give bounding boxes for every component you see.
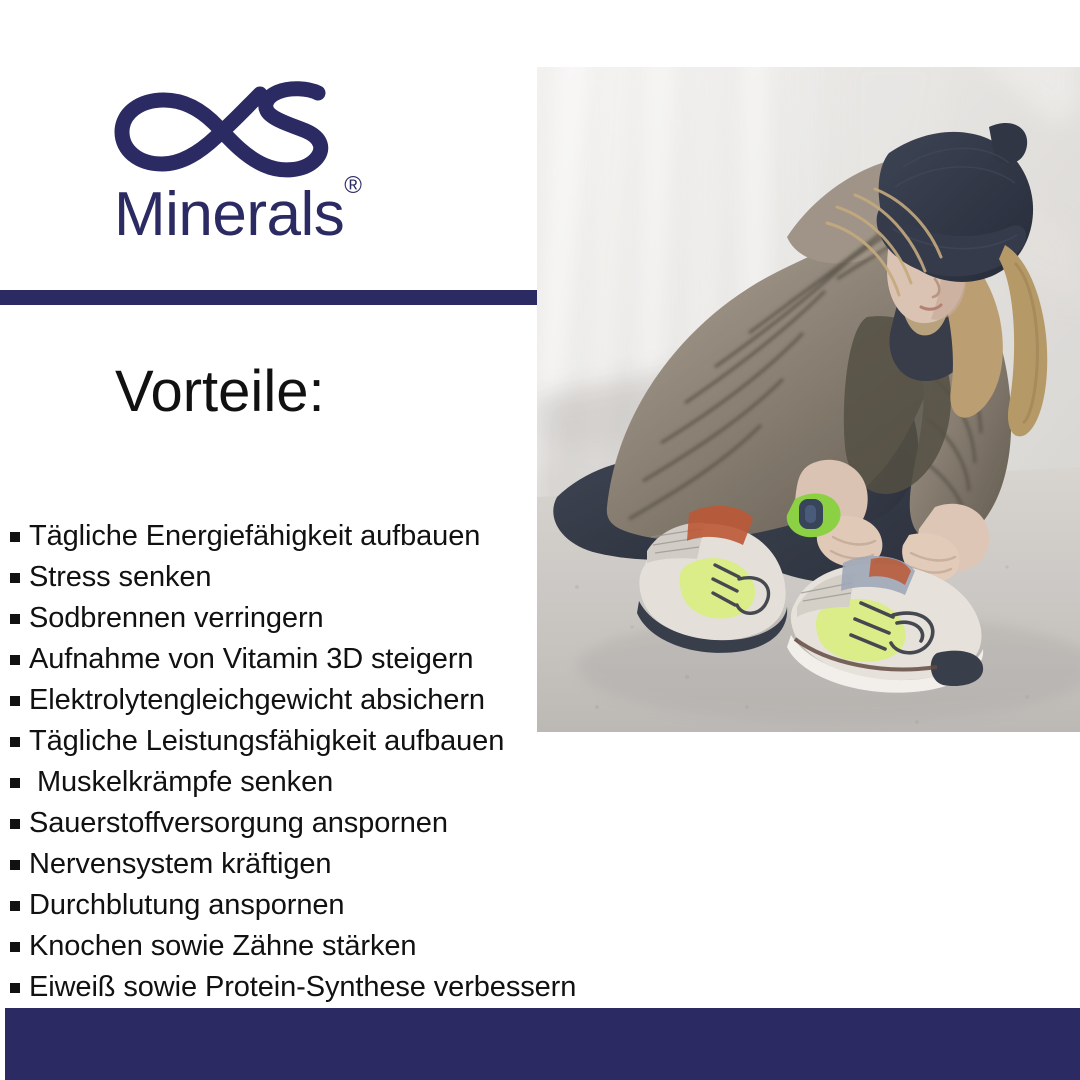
square-bullet-icon <box>10 778 20 788</box>
footer-bar <box>5 1008 1080 1080</box>
square-bullet-icon <box>10 983 20 993</box>
square-bullet-icon <box>10 573 20 583</box>
list-item: Nervensystem kräftigen <box>10 844 680 885</box>
page-title: Vorteile: <box>115 360 325 424</box>
list-item: Knochen sowie Zähne stärken <box>10 926 680 967</box>
square-bullet-icon <box>10 737 20 747</box>
list-item: Sauerstoffversorgung anspornen <box>10 803 680 844</box>
square-bullet-icon <box>10 532 20 542</box>
square-bullet-icon <box>10 614 20 624</box>
square-bullet-icon <box>10 696 20 706</box>
brand-logo: Minerals® <box>112 80 412 260</box>
square-bullet-icon <box>10 942 20 952</box>
list-item: Eiweiß sowie Protein-Synthese verbessern <box>10 967 680 1008</box>
hero-photo <box>537 67 1080 732</box>
square-bullet-icon <box>10 860 20 870</box>
poster-canvas: Minerals® Vorteile: Tägliche Energiefähi… <box>0 0 1080 1080</box>
square-bullet-icon <box>10 819 20 829</box>
registered-trademark-icon: ® <box>344 172 361 199</box>
header-divider-bar <box>0 290 537 305</box>
list-item: Muskelkrämpfe senken <box>10 762 680 803</box>
square-bullet-icon <box>10 901 20 911</box>
wordmark-text: Minerals <box>114 180 344 249</box>
infinity-alpha-s-icon <box>112 80 362 188</box>
list-item: Durchblutung anspornen <box>10 885 680 926</box>
square-bullet-icon <box>10 655 20 665</box>
brand-wordmark: Minerals® <box>114 184 361 246</box>
